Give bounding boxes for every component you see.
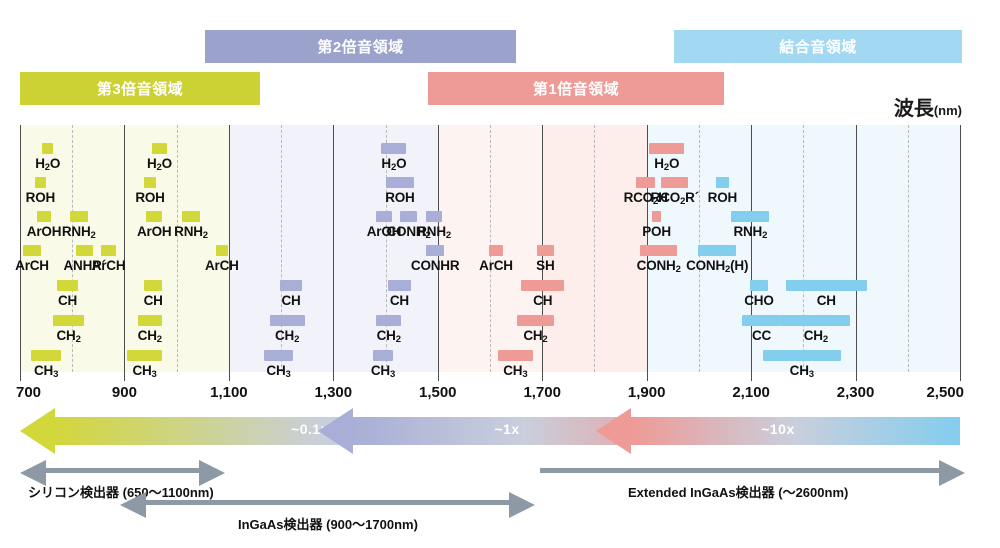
detector-arrow-right-icon [509,492,535,518]
absorption-bar-label: ROH [26,190,55,205]
absorption-bar-ch [144,280,162,291]
axis-tick-label-2300: 2,300 [837,384,875,401]
absorption-bar-ch [388,280,410,291]
absorption-bar-ch2 [53,315,83,326]
absorption-bar-arch [489,245,503,256]
absorption-bar-rnh2 [70,211,88,222]
absorption-bar-label: CONH2 [637,258,681,273]
axis-tick-label-2500: 2,500 [926,384,964,401]
absorption-bar-label: CH [281,293,300,308]
absorption-bar-label: CH3 [34,363,58,378]
absorption-bar-aroh [37,211,52,222]
absorption-bar-rnh2 [426,211,442,222]
category-bar-first-overtone: 第1倍音領域 [428,72,724,105]
absorption-bar-label: ArOH [137,224,171,239]
absorption-bar-label: CH3 [503,363,527,378]
absorption-bar-ch2 [781,315,850,326]
gridline-major-2500 [960,125,961,372]
absorption-bar-label: CH3 [371,363,395,378]
absorption-bar-label: CH2 [275,328,299,343]
absorption-bar-ch2 [270,315,305,326]
absorption-bar-label: CH [533,293,552,308]
absorption-bar-ch [521,280,564,291]
absorption-bar-h2o [381,143,406,154]
absorption-bar-label: ArCH [92,258,126,273]
axis-tick-900 [124,372,125,381]
absorption-bar-label: CH2 [56,328,80,343]
axis-title-main: 波長 [894,98,934,120]
absorption-bar-roh [35,177,46,188]
absorption-bar-label: CH [58,293,77,308]
plot-area: H2OH2OROHROHArOHRNH2ArOHRNH2ArCHANHR´ArC… [20,125,960,372]
gridline-major-700 [20,125,21,372]
axis-tick-2100 [751,372,752,381]
absorption-bar-roh [144,177,155,188]
absorption-bar-poh [652,211,661,222]
detector-arrow-right-icon [939,460,965,486]
absorption-bar-ch2 [517,315,554,326]
absorption-bar-label: ROH [385,190,414,205]
absorption-bar-anhr [76,245,93,256]
absorption-bar-ch3 [373,350,394,361]
absorption-bar-label: CHO [744,293,773,308]
axis-tick-2500 [960,372,961,381]
absorption-bar-label: CH3 [790,363,814,378]
absorption-bar-label: RNH2 [62,224,96,239]
absorption-bar-label: CONHR [411,258,460,273]
gridline-major-1100 [229,125,230,372]
absorption-bar-conh2h [698,245,737,256]
absorption-bar-roh [386,177,415,188]
absorption-bar-cho [750,280,768,291]
category-bar-third-overtone: 第3倍音領域 [20,72,260,105]
absorption-bar-roh [716,177,730,188]
absorption-bar-cc [742,315,782,326]
arrow-10x: ~10x [596,408,960,454]
absorption-bar-label: H2O [35,156,60,171]
absorption-bar-label: POH [642,224,671,239]
absorption-bar-sh [537,245,554,256]
gridline-minor-1000 [177,125,178,372]
absorption-bar-label: CH2 [138,328,162,343]
absorption-bar-arch [23,245,41,256]
axis-title: 波長(nm) [894,92,962,121]
absorption-bar-label: RNH2 [174,224,208,239]
absorption-bar-rnh2 [731,211,769,222]
axis-tick-2300 [856,372,857,381]
absorption-bar-label: CH [144,293,163,308]
absorption-bar-rnh2 [182,211,200,222]
axis-tick-label-1300: 1,300 [315,384,353,401]
absorption-bar-label: CH3 [132,363,156,378]
axis-tick-700 [20,372,21,381]
nir-absorption-chart: 第3倍音領域第2倍音領域第1倍音領域結合音領域 波長(nm) H2OH2OROH… [0,0,1000,548]
gridline-minor-1800 [594,125,595,372]
absorption-bar-arch [101,245,116,256]
absorption-bar-h2o [649,143,684,154]
detector-range-line [44,468,201,473]
absorption-bar-aroh [146,211,162,222]
axis-tick-label-1900: 1,900 [628,384,666,401]
absorption-bar-label: RNH2 [733,224,767,239]
absorption-bar-label: CH3 [266,363,290,378]
detector-range-line [540,468,941,473]
detector-range-line [144,500,511,505]
absorption-bar-rco2r [661,177,688,188]
detector-range-label: Extended InGaAs検出器 (〜2600nm) [628,482,848,501]
axis-tick-label-1700: 1,700 [523,384,561,401]
absorption-bar-label: CC [752,328,771,343]
detector-arrow-left-icon [120,492,146,518]
absorption-bar-conhr [426,245,444,256]
absorption-bar-label: ArCH [205,258,239,273]
axis-title-unit: (nm) [934,103,962,118]
absorption-bar-label: ROH [708,190,737,205]
category-bar-label: 第1倍音領域 [533,78,619,99]
absorption-bar-ch3 [31,350,60,361]
absorption-bar-label: SH [536,258,554,273]
axis-tick-label-2100: 2,100 [732,384,770,401]
absorption-bar-label: CH [817,293,836,308]
category-bar-combination: 結合音領域 [674,30,962,63]
absorption-bar-label: ROH [135,190,164,205]
absorption-bar-label: CH2 [377,328,401,343]
gridline-minor-2400 [908,125,909,372]
absorption-bar-rco2h [636,177,655,188]
axis-tick-1700 [542,372,543,381]
absorption-bar-ch [280,280,302,291]
axis-tick-label-1500: 1,500 [419,384,457,401]
absorption-bar-conh2 [400,211,417,222]
category-bar-label: 第2倍音領域 [317,36,403,57]
absorption-bar-ch2 [138,315,163,326]
axis-tick-label-1100: 1,100 [210,384,248,401]
absorption-bar-label: H2O [654,156,679,171]
absorption-bar-label: CH2 [804,328,828,343]
absorption-bar-label: RCO2R´ [651,190,699,205]
absorption-bar-ch [57,280,79,291]
absorption-bar-label: ArCH [479,258,513,273]
detector-range-label: InGaAs検出器 (900〜1700nm) [238,514,418,533]
axis-tick-1100 [229,372,230,381]
category-bar-label: 第3倍音領域 [97,78,183,99]
axis-tick-1900 [647,372,648,381]
absorption-bar-label: RNH2 [417,224,451,239]
absorption-bar-ch3 [498,350,533,361]
absorption-bar-label: CH [390,293,409,308]
absorption-bar-ch3 [763,350,841,361]
absorption-bar-h2o [152,143,168,154]
scale-arrow-label: ~10x [596,421,960,437]
absorption-bar-conh2 [640,245,677,256]
absorption-bar-arch [216,245,228,256]
absorption-bar-label: ArOH [27,224,61,239]
gridline-major-2300 [856,125,857,372]
absorption-bar-label: ArCH [15,258,49,273]
axis-tick-1300 [333,372,334,381]
absorption-bar-label: CONH2(H) [686,258,748,273]
absorption-bar-ch [786,280,867,291]
absorption-bar-label: H2O [381,156,406,171]
absorption-bar-h2o [42,143,53,154]
absorption-bar-label: CH2 [523,328,547,343]
axis-tick-label-900: 900 [112,384,137,401]
absorption-bar-ch3 [264,350,292,361]
gridline-major-900 [124,125,125,372]
absorption-bar-ch3 [127,350,162,361]
category-bar-second-overtone: 第2倍音領域 [205,30,516,63]
axis-tick-1500 [438,372,439,381]
axis-tick-label-700: 700 [16,384,41,401]
absorption-bar-aroh [376,211,392,222]
absorption-bar-ch2 [376,315,401,326]
absorption-bar-label: H2O [147,156,172,171]
gridline-major-1300 [333,125,334,372]
category-bar-label: 結合音領域 [779,36,857,57]
